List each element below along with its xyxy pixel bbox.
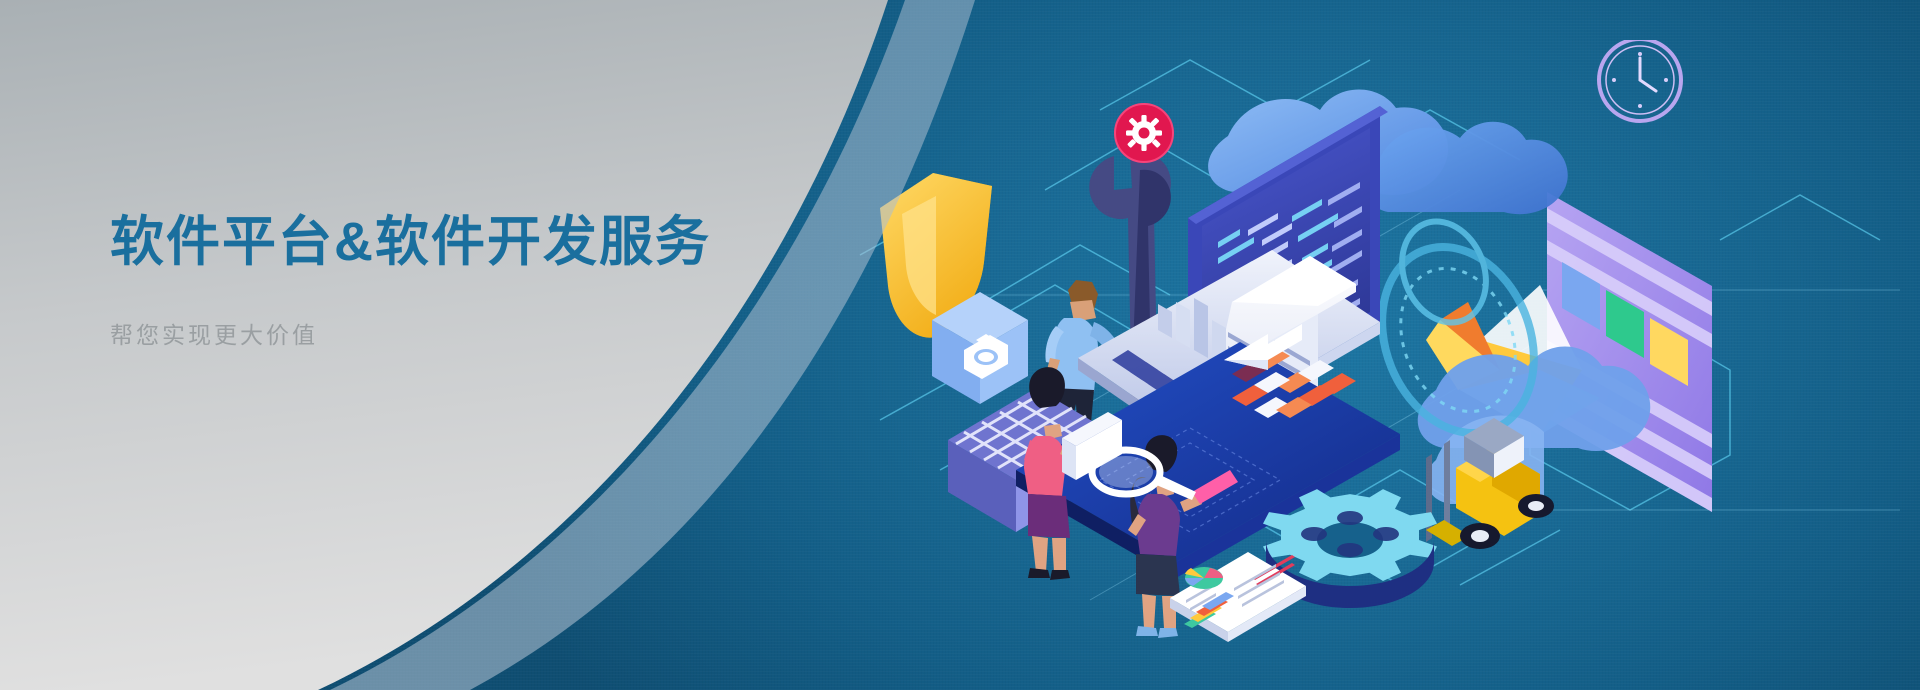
page-subtitle: 帮您实现更大价值 bbox=[110, 316, 711, 350]
page-title: 软件平台&软件开发服务 bbox=[110, 212, 711, 272]
hero-banner: 软件平台&软件开发服务 帮您实现更大价值 bbox=[0, 0, 1920, 690]
hero-copy: 软件平台&软件开发服务 帮您实现更大价值 bbox=[110, 212, 711, 350]
